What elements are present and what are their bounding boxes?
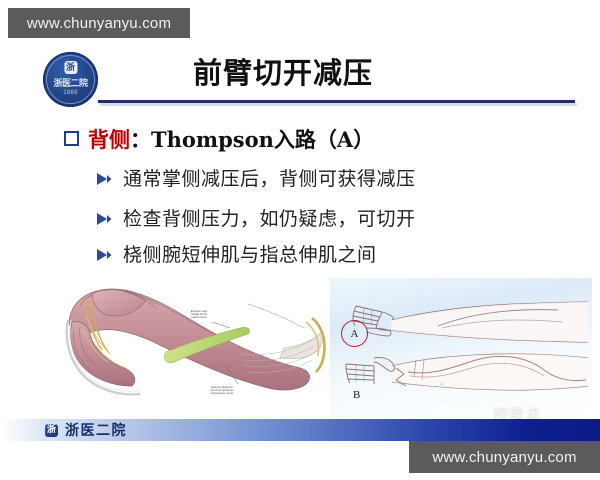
forearm-anatomy-illustration: Extensor carpi radialis brevis (radial n… (62, 276, 332, 416)
watermark-top: www.chunyanyu.com (8, 8, 190, 38)
title-rule (98, 100, 575, 103)
slide-footer: 浙 浙医二院 (0, 419, 600, 441)
main-bullet-highlight: 背侧 (88, 127, 130, 152)
anatomy-label-ecrb: Extensor carpi radialis brevis (radial n… (177, 310, 221, 320)
sub-bullet-1: 通常掌侧减压后，背侧可获得减压 (96, 164, 416, 191)
main-bullet: 背侧：Thompson入路（A） (64, 124, 374, 154)
sub-bullet-3: 桡侧腕短伸肌与指总伸肌之间 (96, 240, 377, 267)
footer-label: 浙医二院 (65, 420, 127, 440)
arm-incision-svg (330, 278, 592, 416)
footer-brand: 浙 浙医二院 (45, 419, 127, 441)
title-rule-shadow (100, 103, 577, 106)
logo-mark-icon: 浙 (64, 61, 77, 74)
arm-label-b: B (353, 389, 360, 401)
arm-incision-panel: A B (330, 278, 592, 416)
sub-bullet-2: 检查背侧压力，如仍疑虑，可切开 (96, 204, 416, 231)
arrow-bullet-icon (96, 248, 112, 262)
logo-year: 1869 (43, 90, 98, 96)
slide-canvas: www.chunyanyu.com 浙 浙医二院 1869 前臂切开减压 背侧：… (0, 0, 600, 480)
arrow-bullet-icon (96, 212, 112, 226)
page-title: 前臂切开减压 (193, 50, 373, 92)
main-bullet-rest: ：Thompson入路（A） (130, 127, 374, 152)
watermark-bottom-text: www.chunyanyu.com (432, 449, 576, 466)
logo-name: 浙医二院 (43, 76, 98, 89)
footer-logo-icon: 浙 (45, 424, 58, 437)
sub-bullet-2-text: 检查背侧压力，如仍疑虑，可切开 (123, 204, 416, 231)
anatomy-label-edc: Extensor digitorum communis (posterior i… (193, 386, 251, 396)
watermark-top-text: www.chunyanyu.com (27, 15, 171, 32)
arm-label-a: A (341, 320, 368, 347)
sub-bullet-3-text: 桡侧腕短伸肌与指总伸肌之间 (123, 240, 377, 267)
watermark-bottom: www.chunyanyu.com (409, 441, 600, 473)
square-bullet-icon (64, 131, 79, 146)
arrow-bullet-icon (96, 172, 112, 186)
sub-bullet-1-text: 通常掌侧减压后，背侧可获得减压 (123, 164, 416, 191)
hospital-logo: 浙 浙医二院 1869 (43, 52, 98, 107)
figure-band: Extensor carpi radialis brevis (radial n… (0, 276, 600, 419)
